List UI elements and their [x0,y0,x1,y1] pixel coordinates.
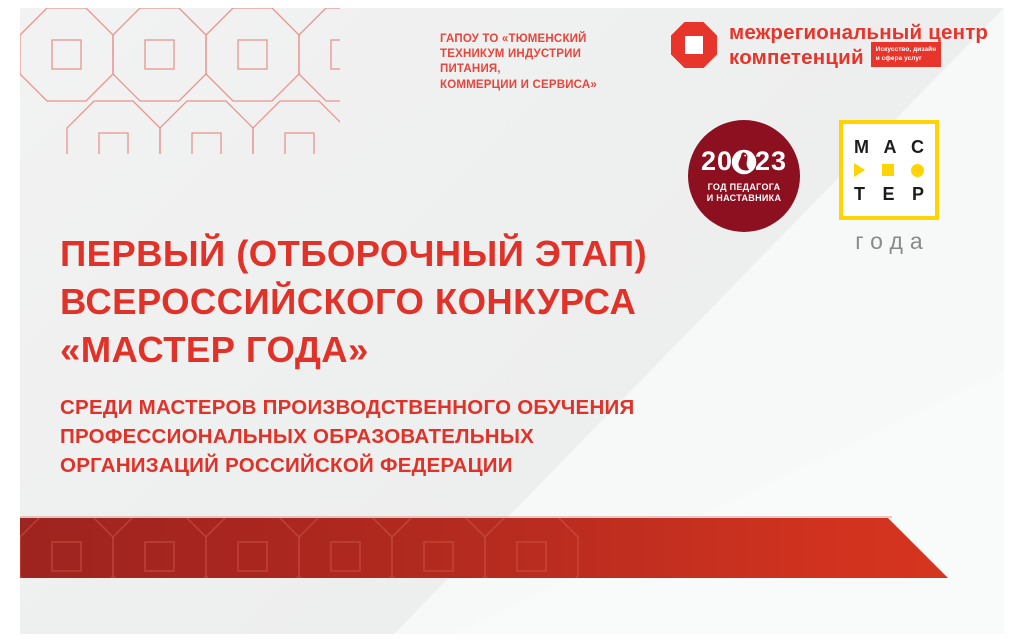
title-slide: ГАПОУ ТО «ТЮМЕНСКИЙ ТЕХНИКУМ ИНДУСТРИИ П… [0,0,1024,642]
octagon-square-pattern [20,8,340,154]
band-octagon-pattern [20,518,580,578]
circle-icon [911,164,924,177]
master-letter-s: С [911,138,924,156]
master-letter-r: Р [912,185,924,203]
badge-row: 20 23 ГОД ПЕДАГОГА И НАСТАВНИКА М [688,120,948,253]
mcc-wordmark: межрегиональный центр компетенций Искусс… [729,22,988,69]
mcc-tagline: Искусство, дизайн и сфера услуг [871,42,941,67]
year-badge-number: 20 23 [701,148,787,175]
master-logo-caption: года [830,230,948,253]
octagon-mark-icon [671,22,717,68]
mcc-line-1: межрегиональный центр [729,22,988,44]
master-logo-row-letters-top: М А С [850,138,928,156]
square-icon [882,164,894,176]
year-badge-line-2: И НАСТАВНИКА [707,193,782,204]
year-of-teacher-badge: 20 23 ГОД ПЕДАГОГА И НАСТАВНИКА [688,120,800,232]
master-letter-a: А [884,138,897,156]
page-subtitle: СРЕДИ МАСТЕРОВ ПРОИЗВОДСТВЕННОГО ОБУЧЕНИ… [60,393,720,480]
master-letter-t: Т [854,185,865,203]
subhead-line-1: СРЕДИ МАСТЕРОВ ПРОИЗВОДСТВЕННОГО ОБУЧЕНИ… [60,393,720,422]
year-badge-number-left: 20 [701,148,733,175]
headline-line-2: ВСЕРОССИЙСКОГО КОНКУРСА [60,278,700,326]
subhead-line-3: ОРГАНИЗАЦИЙ РОССИЙСКОЙ ФЕДЕРАЦИИ [60,451,720,480]
slide-canvas: ГАПОУ ТО «ТЮМЕНСКИЙ ТЕХНИКУМ ИНДУСТРИИ П… [20,8,1004,634]
master-logo-row-shapes [850,163,928,177]
master-letter-m: М [854,138,869,156]
band-hairline [20,516,892,518]
institution-name: ГАПОУ ТО «ТЮМЕНСКИЙ ТЕХНИКУМ ИНДУСТРИИ П… [440,22,635,93]
master-logo-row-letters-bottom: Т Е Р [850,185,928,203]
page-title: ПЕРВЫЙ (ОТБОРОЧНЫЙ ЭТАП) ВСЕРОССИЙСКОГО … [60,230,700,373]
headline-line-3: «МАСТЕР ГОДА» [60,326,700,374]
master-letter-e: Е [882,185,894,203]
red-diagonal-band [20,518,1004,578]
header-logos: ГАПОУ ТО «ТЮМЕНСКИЙ ТЕХНИКУМ ИНДУСТРИИ П… [440,22,988,93]
year-badge-number-right: 23 [755,148,787,175]
mcc-logo: межрегиональный центр компетенций Искусс… [671,22,988,69]
year-badge-line-1: ГОД ПЕДАГОГА [708,182,781,193]
headline-line-1: ПЕРВЫЙ (ОТБОРОЧНЫЙ ЭТАП) [60,230,700,278]
triangle-icon [854,163,865,177]
master-logo-frame: М А С Т Е Р [839,120,939,220]
master-goda-logo: М А С Т Е Р года [830,120,948,253]
mcc-line-2: компетенций [729,47,864,69]
subhead-line-2: ПРОФЕССИОНАЛЬНЫХ ОБРАЗОВАТЕЛЬНЫХ [60,422,720,451]
pelican-bird-icon [730,148,758,176]
